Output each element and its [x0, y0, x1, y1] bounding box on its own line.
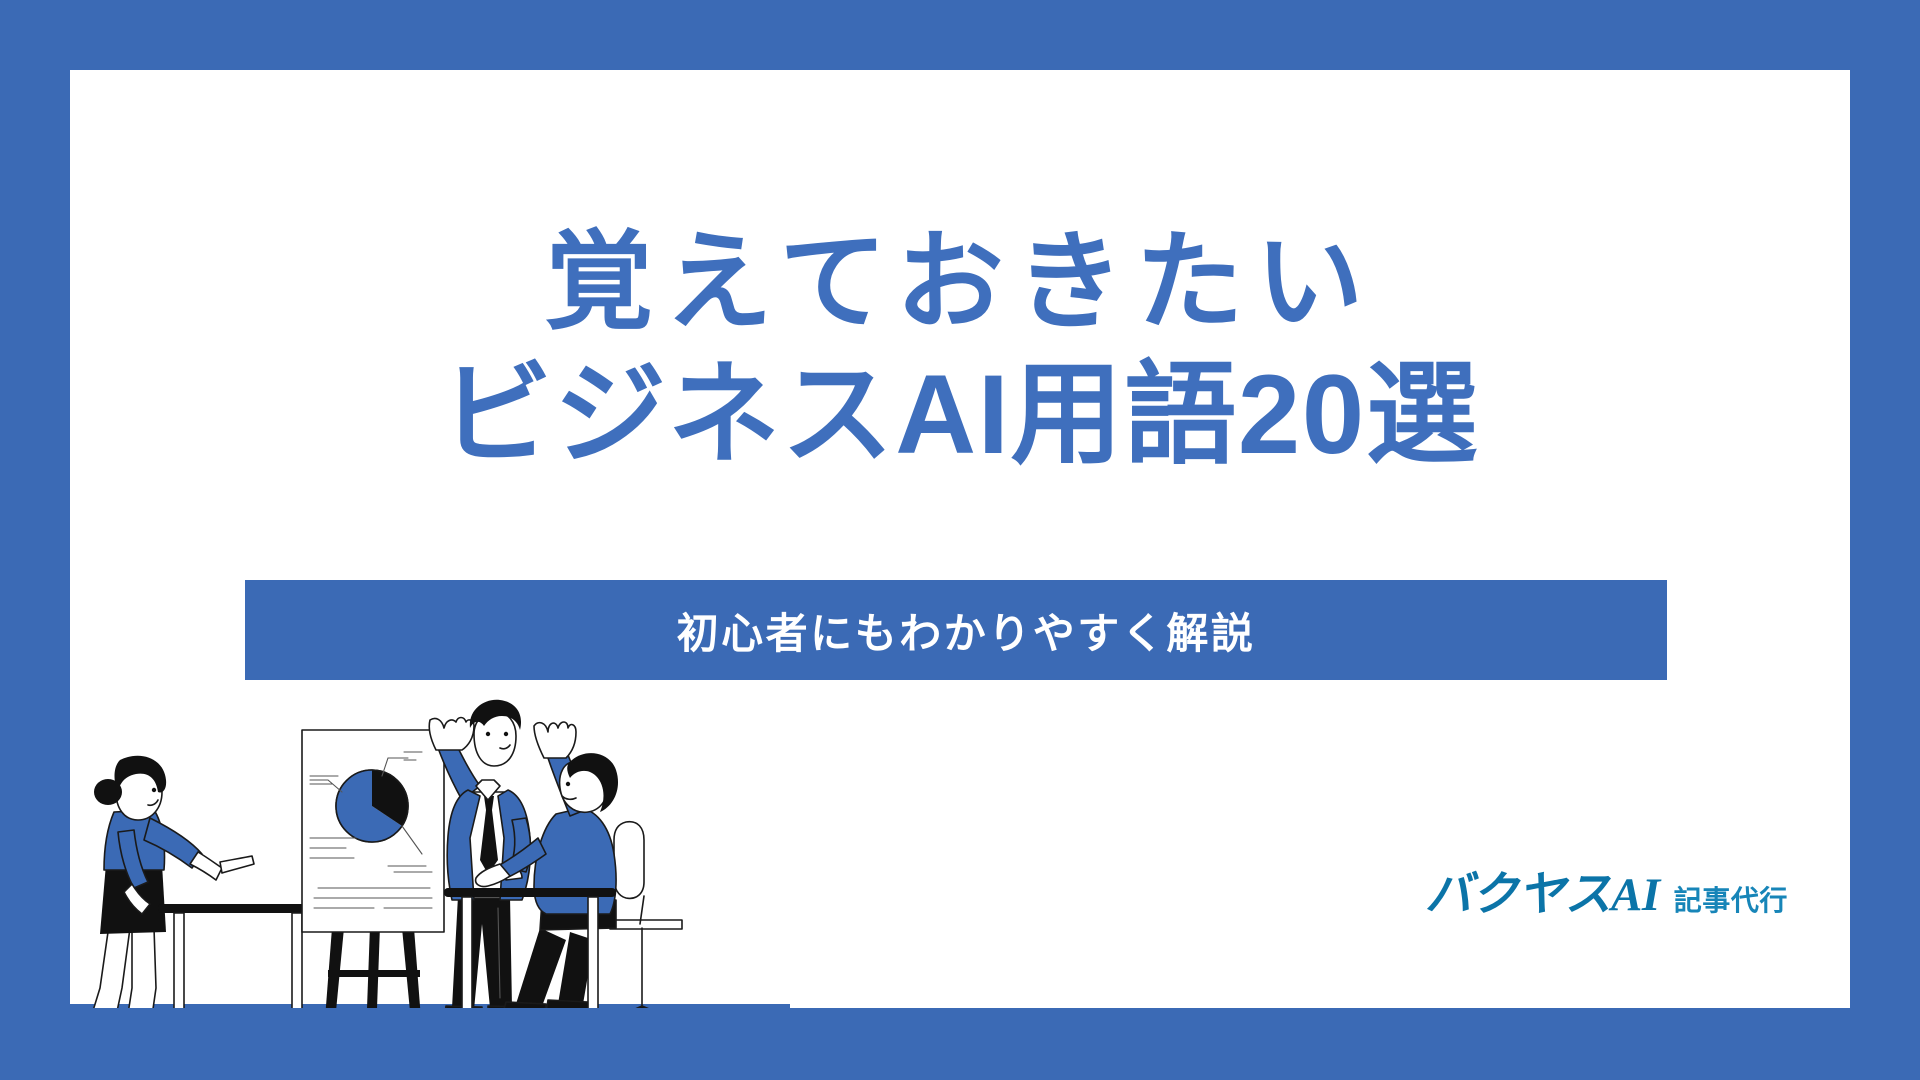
slide-card: 覚えておきたい ビジネスAI用語20選 初心者にもわかりやすく解説 バクヤスAI…: [70, 70, 1850, 1008]
brand-logo: バクヤスAI 記事代行: [1425, 855, 1788, 924]
subtitle-text: 初心者にもわかりやすく解説: [657, 600, 1256, 661]
business-team-illustration: .ln{fill:none;stroke:#1a1a1a;stroke-widt…: [70, 688, 790, 1008]
illustration-svg: .ln{fill:none;stroke:#1a1a1a;stroke-widt…: [70, 688, 790, 1008]
easel-with-poster: [302, 730, 444, 1008]
brand-logo-sub: 記事代行: [1674, 879, 1788, 919]
subtitle-banner: 初心者にもわかりやすく解説: [245, 580, 1667, 680]
page-title: 覚えておきたい ビジネスAI用語20選: [70, 218, 1850, 482]
headline-line-1: 覚えておきたい: [70, 218, 1850, 345]
slide-root: 覚えておきたい ビジネスAI用語20選 初心者にもわかりやすく解説 バクヤスAI…: [0, 0, 1920, 1080]
brand-logo-main: バクヤスAI: [1425, 855, 1660, 924]
headline-line-2: ビジネスAI用語20選: [70, 349, 1850, 481]
left-table: [158, 904, 318, 1008]
poster-pie-chart: [336, 770, 408, 842]
figure-standing-woman: [86, 756, 254, 1008]
